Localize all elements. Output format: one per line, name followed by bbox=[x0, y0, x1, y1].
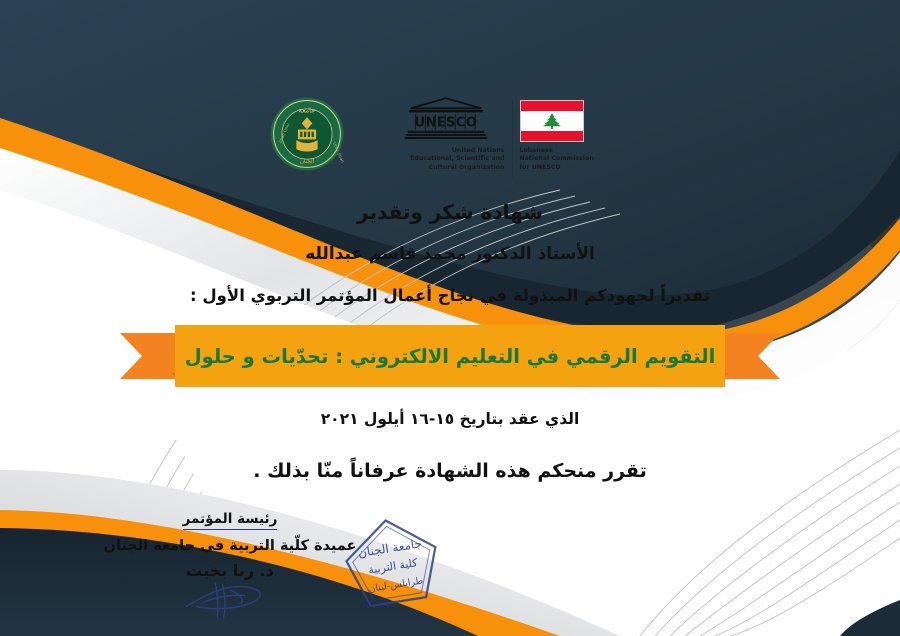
svg-text:UNESCO: UNESCO bbox=[414, 116, 477, 131]
flag-band-bottom bbox=[521, 131, 583, 141]
certificate-canvas: جامعة الجنان Jinan Univ. Univ. Jinan bbox=[0, 0, 900, 636]
conference-date: الذي عقد بتاريخ ١٥-١٦ أيلول ٢٠٢١ bbox=[321, 410, 580, 428]
unesco-column: UNESCO bbox=[387, 96, 505, 178]
ribbon-tail-right bbox=[722, 333, 780, 379]
lebanese-caption-line-2: National Commission bbox=[520, 155, 632, 163]
unesco-caption-line-2: Educational, Scientific and bbox=[387, 155, 505, 163]
lebanese-caption-line-3: for UNESCO bbox=[520, 164, 632, 172]
lebanon-flag-icon bbox=[520, 96, 584, 142]
certificate-title: شهادة شكر وتقدير bbox=[357, 200, 543, 224]
conference-title-text: التقويم الرقمي في التعليم الالكتروني : ت… bbox=[185, 345, 716, 368]
unesco-caption-line-3: Cultural Organization bbox=[387, 164, 505, 172]
unesco-logo-block: UNESCO bbox=[387, 96, 632, 178]
lebanese-commission-caption: Lebanese National Commission for UNESCO bbox=[520, 142, 632, 172]
svg-text:الجنان: الجنان bbox=[299, 159, 314, 165]
conference-title-ribbon: التقويم الرقمي في التعليم الالكتروني : ت… bbox=[120, 325, 780, 387]
jinan-university-seal-icon: جامعة الجنان Jinan Univ. Univ. Jinan bbox=[269, 96, 345, 172]
flag-band-middle bbox=[521, 111, 583, 131]
ribbon-body: التقويم الرقمي في التعليم الالكتروني : ت… bbox=[175, 325, 725, 387]
closing-statement: تقرر منحكم هذه الشهادة عرفاناً منّا بذلك… bbox=[253, 460, 646, 482]
lebanese-caption-line-1: Lebanese bbox=[520, 147, 632, 155]
appreciation-reason: تقديراً لجهودكم المبذولة في نجاح أعمال ا… bbox=[190, 286, 710, 305]
svg-text:جامعة: جامعة bbox=[298, 107, 315, 115]
lebanese-commission-column: Lebanese National Commission for UNESCO bbox=[520, 96, 632, 178]
unesco-caption-line-1: United Nations bbox=[387, 147, 505, 155]
flag-band-top bbox=[521, 101, 583, 111]
cedar-icon bbox=[539, 112, 565, 130]
recipient-name: الأستاذ الدكتور محمد قاسم عبدالله bbox=[305, 244, 595, 264]
certificate-content: جامعة الجنان Jinan Univ. Univ. Jinan bbox=[0, 0, 900, 636]
logo-divider bbox=[512, 100, 513, 178]
logo-row: جامعة الجنان Jinan Univ. Univ. Jinan bbox=[269, 96, 632, 178]
unesco-temple-icon: UNESCO bbox=[395, 96, 497, 142]
ribbon-tail-left bbox=[120, 333, 178, 379]
unesco-caption: United Nations Educational, Scientific a… bbox=[387, 142, 505, 172]
